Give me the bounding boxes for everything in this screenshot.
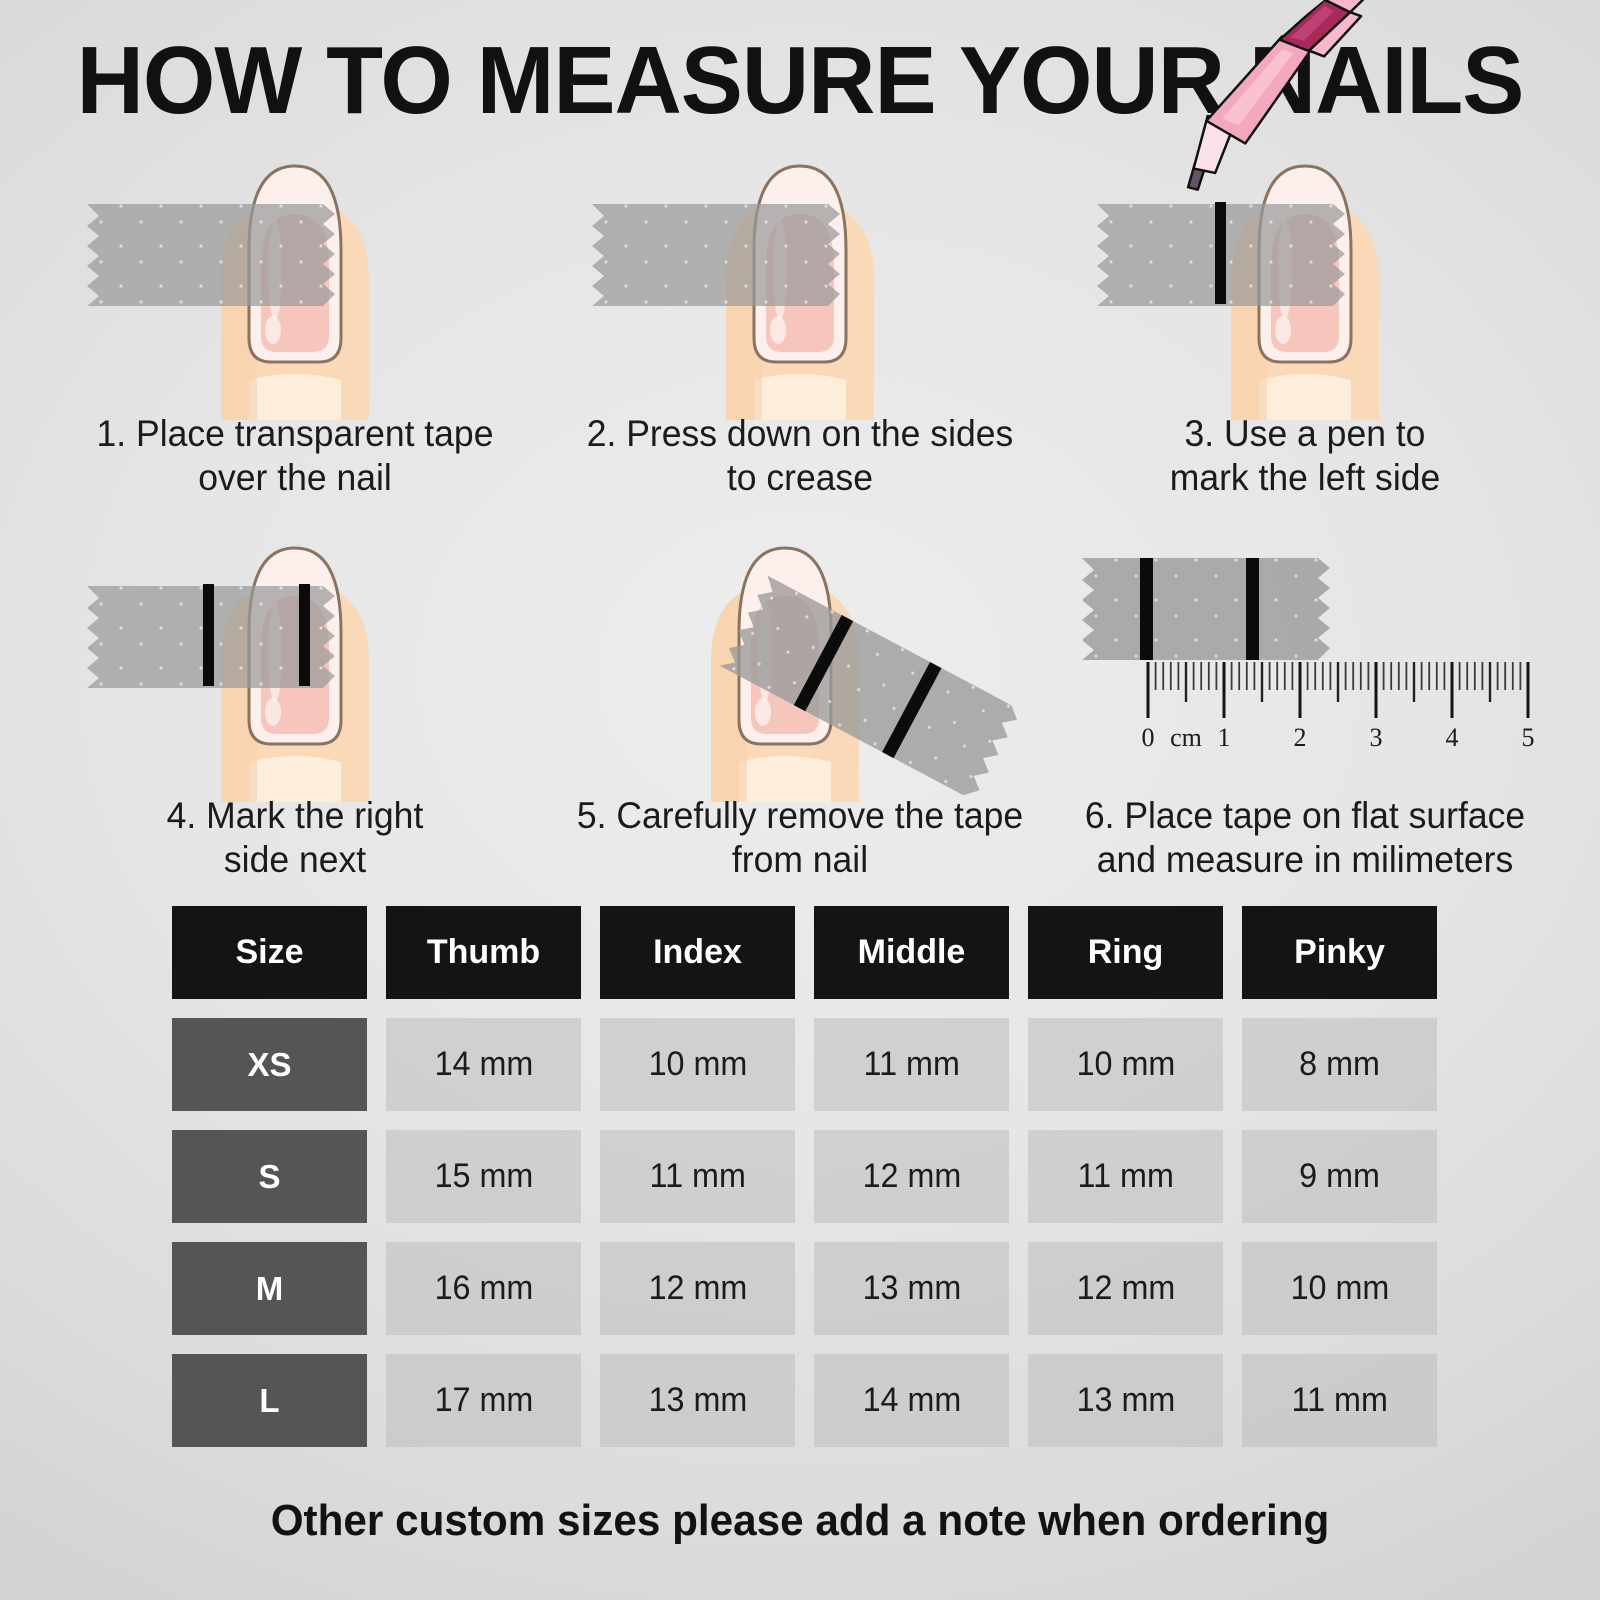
ruler-tick-label: 1 bbox=[1218, 723, 1231, 752]
table-row: XS14 mm10 mm11 mm10 mm8 mm bbox=[172, 1018, 1464, 1111]
step-4-caption-line1: 4. Mark the right bbox=[69, 794, 520, 838]
tape-strip-creased bbox=[580, 200, 840, 310]
step-3-caption-line1: 3. Use a pen to bbox=[1079, 412, 1530, 456]
table-cell-ring: 11 mm bbox=[1028, 1130, 1223, 1223]
table-cell-thumb: 16 mm bbox=[386, 1242, 581, 1335]
step-6-illustration: 012345cm bbox=[1070, 512, 1540, 792]
table-cell-middle: 14 mm bbox=[814, 1354, 1009, 1447]
table-cell-ring: 13 mm bbox=[1028, 1354, 1223, 1447]
step-3: 3. Use a pen to mark the left side bbox=[1070, 130, 1540, 410]
table-cell-ring: 12 mm bbox=[1028, 1242, 1223, 1335]
ruler: 012345cm bbox=[1130, 660, 1550, 770]
table-cell-index: 10 mm bbox=[600, 1018, 795, 1111]
ruler-tick-label: 4 bbox=[1446, 723, 1459, 752]
step-4-caption-line2: side next bbox=[69, 838, 520, 882]
table-cell-pinky: 11 mm bbox=[1242, 1354, 1437, 1447]
table-header-ring: Ring bbox=[1028, 906, 1223, 999]
ruler-tick-label: 3 bbox=[1370, 723, 1383, 752]
step-3-caption-line2: mark the left side bbox=[1079, 456, 1530, 500]
step-2-illustration bbox=[565, 130, 1035, 410]
step-5-caption-line1: 5. Carefully remove the tape bbox=[574, 794, 1025, 838]
table-cell-middle: 11 mm bbox=[814, 1018, 1009, 1111]
step-1-caption-line1: 1. Place transparent tape bbox=[69, 412, 520, 456]
ruler-tick-label: 5 bbox=[1522, 723, 1535, 752]
step-4-caption: 4. Mark the right side next bbox=[69, 794, 520, 881]
step-6-caption: 6. Place tape on flat surface and measur… bbox=[1079, 794, 1530, 881]
table-cell-middle: 12 mm bbox=[814, 1130, 1009, 1223]
table-body: XS14 mm10 mm11 mm10 mm8 mmS15 mm11 mm12 … bbox=[172, 1018, 1464, 1447]
step-5-caption-line2: from nail bbox=[574, 838, 1025, 882]
table-cell-thumb: 17 mm bbox=[386, 1354, 581, 1447]
table-cell-pinky: 10 mm bbox=[1242, 1242, 1437, 1335]
table-cell-size: M bbox=[172, 1242, 367, 1335]
ruler-unit-label: cm bbox=[1170, 723, 1202, 752]
ruler-tick-label: 0 bbox=[1142, 723, 1155, 752]
table-cell-size: L bbox=[172, 1354, 367, 1447]
infographic-page: HOW TO MEASURE YOUR NAILS bbox=[0, 0, 1600, 1600]
step-2-caption-line2: to crease bbox=[574, 456, 1025, 500]
pen-mark-right bbox=[299, 584, 310, 686]
step-5-caption: 5. Carefully remove the tape from nail bbox=[574, 794, 1025, 881]
table-header-size: Size bbox=[172, 906, 367, 999]
step-2: 2. Press down on the sides to crease bbox=[565, 130, 1035, 410]
table-row: M16 mm12 mm13 mm12 mm10 mm bbox=[172, 1242, 1464, 1335]
table-cell-pinky: 9 mm bbox=[1242, 1130, 1437, 1223]
tape-strip bbox=[75, 200, 335, 310]
table-header-pinky: Pinky bbox=[1242, 906, 1437, 999]
step-5: 5. Carefully remove the tape from nail bbox=[565, 512, 1035, 792]
step-6-caption-line1: 6. Place tape on flat surface bbox=[1079, 794, 1530, 838]
tape-strip-flat bbox=[1070, 554, 1330, 664]
table-cell-size: XS bbox=[172, 1018, 367, 1111]
step-4-illustration bbox=[60, 512, 530, 792]
step-6-caption-line2: and measure in milimeters bbox=[1079, 838, 1530, 882]
table-cell-middle: 13 mm bbox=[814, 1242, 1009, 1335]
table-cell-index: 12 mm bbox=[600, 1242, 795, 1335]
table-cell-size: S bbox=[172, 1130, 367, 1223]
table-cell-thumb: 15 mm bbox=[386, 1130, 581, 1223]
step-1-illustration bbox=[60, 130, 530, 410]
table-cell-pinky: 8 mm bbox=[1242, 1018, 1437, 1111]
step-2-caption-line1: 2. Press down on the sides bbox=[574, 412, 1025, 456]
table-cell-index: 13 mm bbox=[600, 1354, 795, 1447]
step-2-caption: 2. Press down on the sides to crease bbox=[574, 412, 1025, 499]
step-3-illustration bbox=[1070, 130, 1540, 410]
footer-note: Other custom sizes please add a note whe… bbox=[32, 1496, 1568, 1546]
step-4: 4. Mark the right side next bbox=[60, 512, 530, 792]
step-1: 1. Place transparent tape over the nail bbox=[60, 130, 530, 410]
pen-mark-left bbox=[1215, 202, 1226, 304]
table-cell-index: 11 mm bbox=[600, 1130, 795, 1223]
step-3-caption: 3. Use a pen to mark the left side bbox=[1079, 412, 1530, 499]
table-row: L17 mm13 mm14 mm13 mm11 mm bbox=[172, 1354, 1464, 1447]
size-chart-table: SizeThumbIndexMiddleRingPinky XS14 mm10 … bbox=[172, 906, 1464, 1466]
step-1-caption: 1. Place transparent tape over the nail bbox=[69, 412, 520, 499]
table-cell-ring: 10 mm bbox=[1028, 1018, 1223, 1111]
table-cell-thumb: 14 mm bbox=[386, 1018, 581, 1111]
step-5-illustration bbox=[565, 512, 1035, 792]
table-header-row: SizeThumbIndexMiddleRingPinky bbox=[172, 906, 1464, 999]
ruler-tick-label: 2 bbox=[1294, 723, 1307, 752]
step-1-caption-line2: over the nail bbox=[69, 456, 520, 500]
table-header-index: Index bbox=[600, 906, 795, 999]
table-header-middle: Middle bbox=[814, 906, 1009, 999]
table-row: S15 mm11 mm12 mm11 mm9 mm bbox=[172, 1130, 1464, 1223]
step-6: 012345cm 6. Place tape on flat surface a… bbox=[1070, 512, 1540, 792]
pen-mark-left bbox=[203, 584, 214, 686]
table-header-thumb: Thumb bbox=[386, 906, 581, 999]
